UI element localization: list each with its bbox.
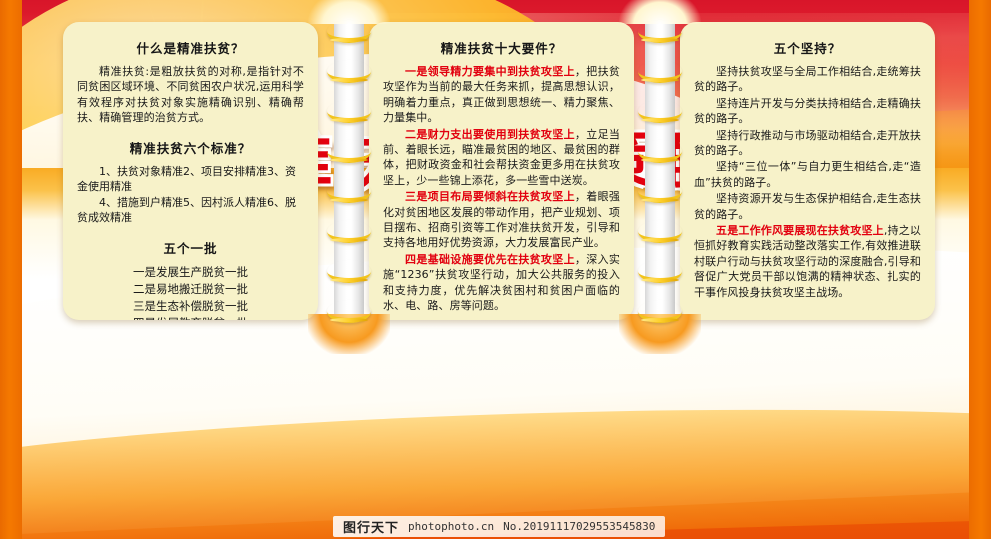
binding-ring (327, 260, 371, 283)
binding-ring (327, 20, 371, 43)
poster-root: 精准扶贫政策解读 什么是精准扶贫？ 精准扶贫:是粗放扶贫的对称,是指针对不同贫困… (0, 0, 991, 539)
binding-ring (638, 180, 682, 203)
panel-left: 什么是精准扶贫？ 精准扶贫:是粗放扶贫的对称,是指针对不同贫困区域环境、不同贫困… (63, 22, 318, 320)
mid-item-2-lead: 二是财力支出要使用到扶贫攻坚上 (405, 128, 575, 141)
binding-ring (638, 220, 682, 243)
left-five-batch-list: 一是发展生产脱贫一批 二是易地搬迁脱贫一批 三是生态补偿脱贫一批 四是发展教育脱… (77, 264, 304, 320)
binding-ring (327, 300, 371, 323)
mid-heading: 精准扶贫十大要件？ (383, 38, 620, 57)
border-right (969, 0, 991, 539)
list-item: 一是发展生产脱贫一批 (77, 264, 304, 281)
left-heading-2: 精准扶贫六个标准？ (77, 138, 304, 157)
right-paragraph-6: 五是工作作风要展现在扶贫攻坚上,持之以恒抓好教育实践活动整改落实工作,有效推进联… (694, 223, 921, 300)
list-item: 四是发展教育脱贫一批 (77, 315, 304, 320)
binding-ring (327, 100, 371, 123)
binding-ring (638, 100, 682, 123)
binding-ring (327, 140, 371, 163)
right-paragraph-5: 坚持资源开发与生态保护相结合,走生态扶贫的路子。 (694, 191, 921, 222)
left-standard-line-1: 1、扶贫对象精准2、项目安排精准3、资金使用精准 (77, 164, 304, 195)
watermark-bar: 图行天下 photophoto.cn No.201911170295535458… (333, 516, 665, 537)
right-heading: 五个坚持？ (694, 38, 921, 57)
watermark-site: photophoto.cn (408, 520, 494, 533)
binding-ring (638, 140, 682, 163)
binding-ring (638, 300, 682, 323)
left-paragraph-1: 精准扶贫:是粗放扶贫的对称,是指针对不同贫困区域环境、不同贫困农户状况,运用科学… (77, 64, 304, 126)
right-paragraph-1: 坚持扶贫攻坚与全局工作相结合,走统筹扶贫的路子。 (694, 64, 921, 95)
mid-item-3-lead: 三是项目布局要倾斜在扶贫攻坚上 (405, 190, 575, 203)
mid-item-1-lead: 一是领导精力要集中到扶贫攻坚上 (405, 65, 575, 78)
list-item: 三是生态补偿脱贫一批 (77, 298, 304, 315)
right-last-lead: 五是工作作风要展现在扶贫攻坚上 (716, 224, 884, 237)
mid-item-4-lead: 四是基础设施要优先在扶贫攻坚上 (405, 253, 575, 266)
binding-ring (638, 60, 682, 83)
left-standard-line-2: 4、措施到户精准5、因村派人精准6、脱贫成效精准 (77, 195, 304, 226)
right-paragraph-2: 坚持连片开发与分类扶持相结合,走精确扶贫的路子。 (694, 96, 921, 127)
right-paragraph-3: 坚持行政推动与市场驱动相结合,走开放扶贫的路子。 (694, 128, 921, 159)
binding-ring (638, 260, 682, 283)
border-left (0, 0, 22, 539)
spiral-binding-right (645, 6, 675, 336)
mid-item-4: 四是基础设施要优先在扶贫攻坚上，深入实施“1236”扶贫攻坚行动，加大公共服务的… (383, 252, 620, 314)
left-heading-3: 五个一批 (77, 238, 304, 257)
binding-ring (327, 60, 371, 83)
right-paragraph-4: 坚持“三位一体”与自力更生相结合,走“造血”扶贫的路子。 (694, 159, 921, 190)
list-item: 二是易地搬迁脱贫一批 (77, 281, 304, 298)
mid-item-3: 三是项目布局要倾斜在扶贫攻坚上，着眼强化对贫困地区发展的带动作用，把产业规划、项… (383, 189, 620, 251)
mid-item-2: 二是财力支出要使用到扶贫攻坚上，立足当前、着眼长远，瞄准最贫困的地区、最贫困的群… (383, 127, 620, 189)
left-heading-1: 什么是精准扶贫？ (77, 38, 304, 57)
binding-ring (327, 220, 371, 243)
spiral-binding-left (334, 6, 364, 336)
watermark-number: No.20191117029553545830 (503, 520, 655, 533)
panel-middle: 精准扶贫十大要件？ 一是领导精力要集中到扶贫攻坚上，把扶贫攻坚作为当前的最大任务… (369, 22, 634, 320)
binding-ring (638, 20, 682, 43)
panel-right: 五个坚持？ 坚持扶贫攻坚与全局工作相结合,走统筹扶贫的路子。 坚持连片开发与分类… (680, 22, 935, 320)
mid-item-1: 一是领导精力要集中到扶贫攻坚上，把扶贫攻坚作为当前的最大任务来抓，提高思想认识，… (383, 64, 620, 126)
watermark-logo: 图行天下 (343, 517, 399, 536)
binding-ring (327, 180, 371, 203)
